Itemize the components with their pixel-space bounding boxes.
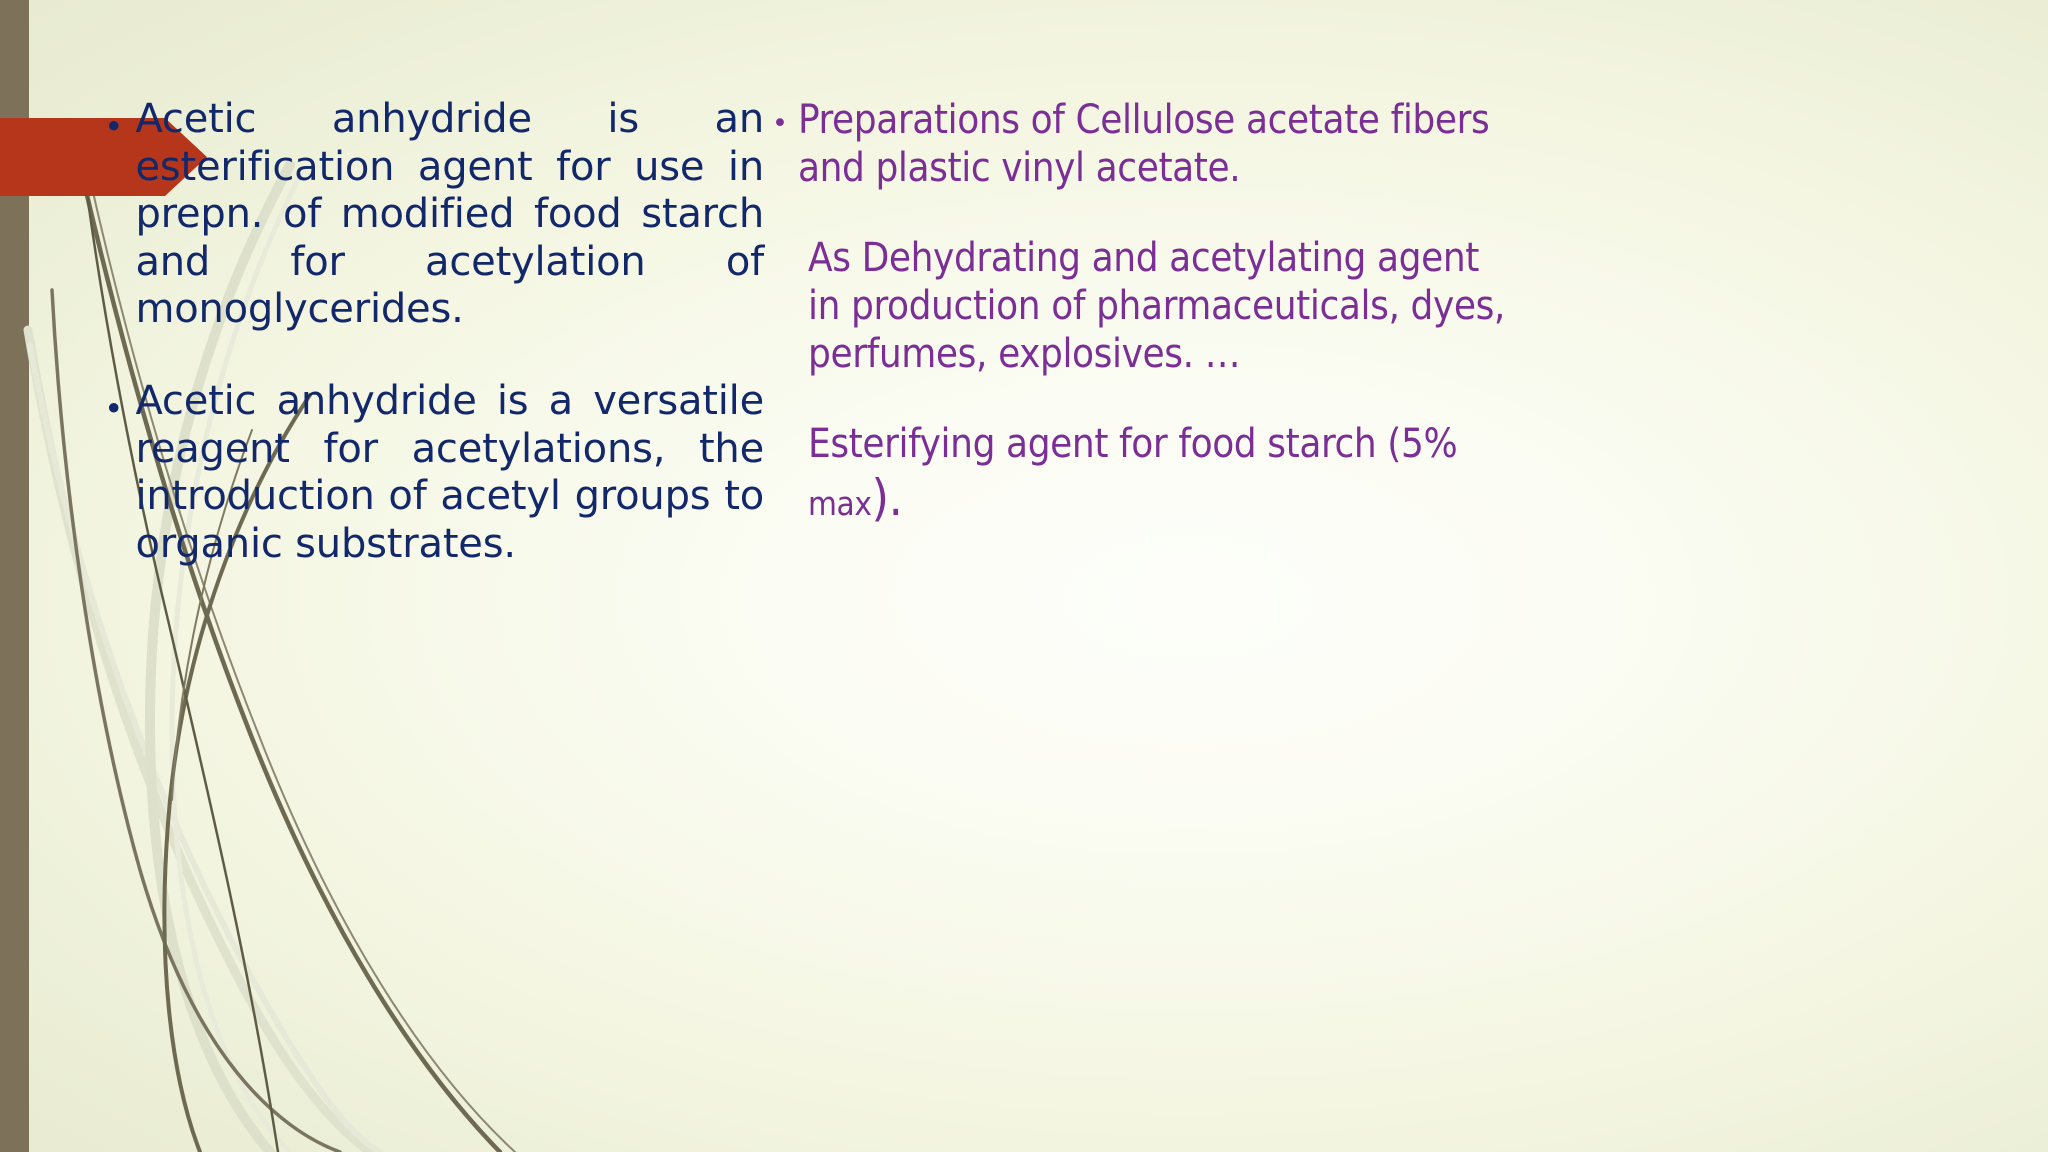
left-column-spacer [104,334,764,378]
right-paragraph-3-paren: ). [871,469,902,527]
right-paragraph-3-wrap: Esterifying agent for food starch (5% ma… [808,420,1512,528]
left-text-column: • Acetic anhydride is an esterification … [104,96,764,568]
presentation-slide: • Acetic anhydride is an esterification … [0,0,2048,1152]
left-bullet-1-text: Acetic anhydride is an esterification ag… [135,96,764,334]
left-bullet-2: • Acetic anhydride is a versatile reagen… [104,378,764,568]
right-paragraph-3: Esterifying agent for food starch (5% ma… [808,420,1512,528]
left-bullet-1: • Acetic anhydride is an esterification … [104,96,764,334]
left-bullet-2-text: Acetic anhydride is a versatile reagent … [135,378,764,568]
right-column-spacer-1 [772,192,1512,234]
right-paragraph-3-main: Esterifying agent for food starch (5% [808,421,1457,467]
bullet-marker-icon: • [104,96,123,143]
bullet-marker-icon: • [772,96,788,137]
right-column-spacer-2 [772,378,1512,420]
right-text-column: • Preparations of Cellulose acetate fibe… [772,96,1512,528]
right-bullet-1: • Preparations of Cellulose acetate fibe… [772,96,1512,192]
right-paragraph-2-wrap: As Dehydrating and acetylating agent in … [808,234,1512,378]
right-paragraph-3-max: max [808,484,871,523]
right-paragraph-2: As Dehydrating and acetylating agent in … [808,234,1512,378]
bullet-marker-icon: • [104,378,123,425]
right-paragraph-1: Preparations of Cellulose acetate fibers… [798,96,1512,192]
